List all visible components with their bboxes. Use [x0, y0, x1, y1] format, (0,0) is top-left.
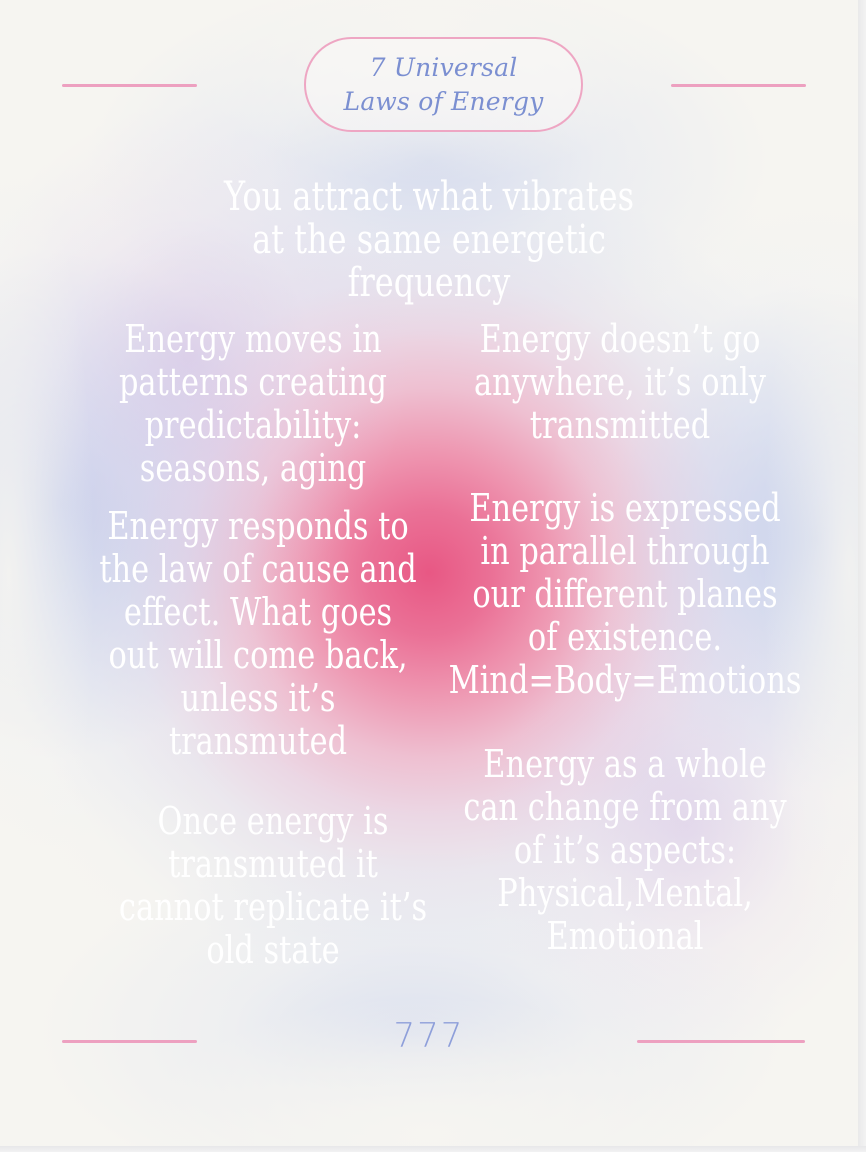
law-5-text: Energy is expressed in parallel through …: [445, 487, 805, 702]
law-6-text: Once energy is transmuted it cannot repl…: [97, 800, 449, 972]
poster-frame-right-edge: [858, 0, 866, 1152]
law-1-text: You attract what vibrates at the same en…: [189, 176, 669, 305]
law-2-text: Energy moves in patterns creating predic…: [85, 318, 421, 490]
poster-header: 7 Universal Laws of Energy: [0, 0, 858, 150]
header-rule-left: [62, 84, 197, 87]
law-7-text: Energy as a whole can change from any of…: [445, 743, 805, 958]
title-line-1: 7 Universal: [370, 51, 518, 85]
poster-card: 7 Universal Laws of Energy You attract w…: [0, 0, 858, 1146]
law-3-text: Energy doesn’t go anywhere, it’s only tr…: [452, 318, 788, 447]
title-pill: 7 Universal Laws of Energy: [304, 37, 583, 132]
footer-number: 777: [0, 1016, 858, 1056]
poster-footer: 777: [0, 1002, 858, 1082]
poster-content: 7 Universal Laws of Energy You attract w…: [0, 0, 858, 1146]
title-line-2: Laws of Energy: [344, 85, 544, 119]
law-4-text: Energy responds to the law of cause and …: [82, 505, 434, 763]
poster-frame-bottom-edge: [0, 1146, 866, 1152]
header-rule-right: [671, 84, 806, 87]
